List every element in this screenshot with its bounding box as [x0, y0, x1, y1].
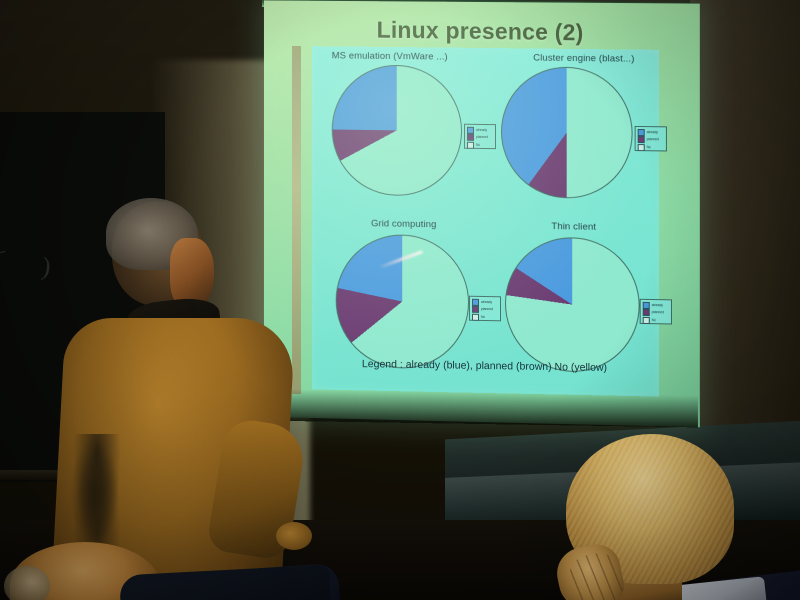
presenter-hand	[276, 522, 312, 550]
legend-label-already: already	[652, 303, 663, 308]
legend-row-planned: planned	[638, 136, 664, 143]
chart-cluster-engine: Cluster engine (blast...) already planne…	[487, 52, 661, 215]
attendee-right	[530, 428, 800, 600]
legend-swatch-no	[467, 141, 474, 148]
legend-label-no: No	[652, 318, 656, 323]
lecture-room-photo: ⌐ ) Linux presence (2) MS emulation (VmW…	[0, 0, 800, 600]
legend-row-planned: planned	[643, 309, 669, 317]
chart-ms-emulation: MS emulation (VmWare ...) already planne…	[318, 50, 490, 212]
slide-accent-bar	[292, 46, 301, 394]
legend-label-no: No	[476, 142, 480, 147]
pie-grid-computing	[336, 234, 469, 370]
pie-ms-emulation	[332, 64, 462, 196]
legend-swatch-no	[643, 316, 650, 323]
presenter	[40, 196, 290, 600]
legend-swatch-already	[643, 301, 650, 308]
legend-label-already: already	[476, 127, 487, 132]
legend-swatch-planned	[467, 134, 474, 141]
pie-slices	[501, 66, 633, 199]
legend-swatch-already	[472, 298, 479, 305]
pie-legend-thin-client: already planned No	[640, 299, 672, 325]
attendee-front-hair	[4, 566, 50, 600]
legend-label-planned: planned	[652, 310, 664, 315]
legend-swatch-planned	[643, 309, 650, 316]
legend-row-no: No	[643, 316, 669, 324]
pie-cluster-engine	[501, 66, 633, 199]
pie-slices	[505, 236, 640, 373]
chart-grid-computing: Grid computing already planned No	[318, 217, 490, 380]
room-wall-right	[690, 0, 800, 470]
legend-row-no: No	[638, 144, 664, 151]
legend-swatch-planned	[472, 306, 479, 313]
legend-label-planned: planned	[647, 137, 659, 142]
legend-swatch-already	[638, 128, 645, 135]
pie-slices	[336, 234, 469, 370]
legend-swatch-planned	[638, 136, 645, 143]
legend-row-already: already	[638, 128, 664, 135]
chalk-mark-icon: ⌐	[0, 239, 9, 267]
presenter-jacket-logo	[70, 434, 124, 556]
pie-legend-cluster-engine: already planned No	[635, 126, 667, 152]
legend-label-already: already	[647, 130, 658, 135]
legend-swatch-already	[467, 126, 474, 133]
pie-chart-grid: MS emulation (VmWare ...) already planne…	[312, 46, 659, 396]
legend-label-no: No	[481, 314, 485, 319]
chart-title-cluster-engine: Cluster engine (blast...)	[487, 52, 671, 65]
legend-swatch-no	[472, 313, 479, 320]
legend-swatch-no	[638, 144, 645, 151]
chart-title-thin-client: Thin client	[487, 220, 661, 234]
chart-title-grid-computing: Grid computing	[318, 217, 490, 231]
chart-thin-client: Thin client already planned No	[487, 220, 661, 384]
legend-row-already: already	[643, 301, 669, 309]
pie-thin-client	[505, 236, 640, 373]
pie-slices	[332, 64, 462, 196]
legend-label-no: No	[647, 145, 651, 150]
chart-title-ms-emulation: MS emulation (VmWare ...)	[318, 50, 504, 63]
